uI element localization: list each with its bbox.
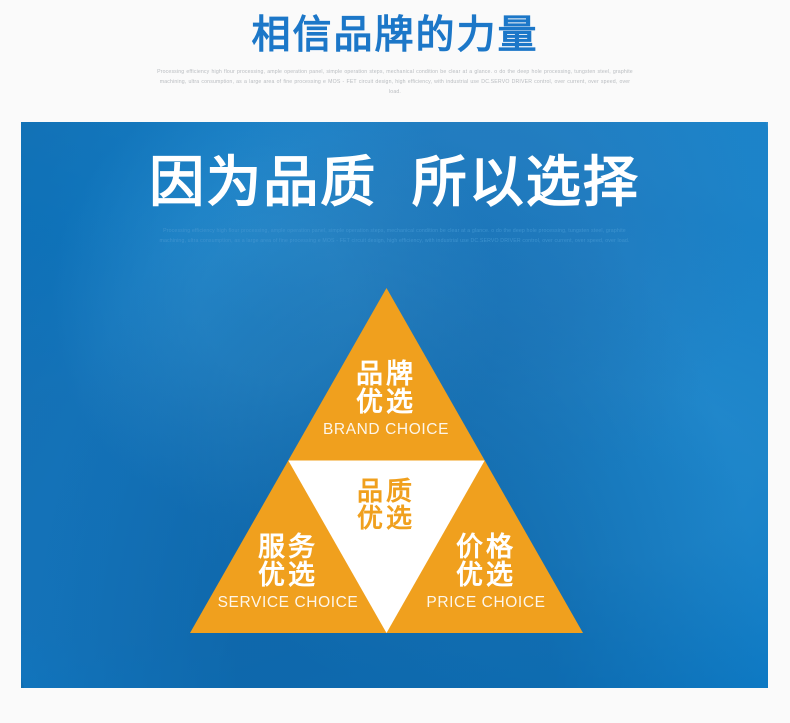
- banner-content: 因为品质 所以选择 Processing efficiency high flo…: [21, 122, 768, 688]
- page-title: 相信品牌的力量: [0, 0, 790, 61]
- triangle-diagram-svg: [190, 288, 583, 633]
- page-header: 相信品牌的力量 Processing efficiency high flour…: [0, 0, 790, 122]
- page-description: Processing efficiency high flour process…: [155, 67, 635, 97]
- page-footer-spacer: [0, 688, 790, 723]
- triangle-diagram: 品牌 优选 BRAND CHOICE 服务 优选 SERVICE CHOICE …: [190, 288, 583, 633]
- feature-banner-panel: 因为品质 所以选择 Processing efficiency high flo…: [21, 122, 768, 688]
- banner-headline: 因为品质 所以选择: [21, 122, 768, 214]
- banner-description: Processing efficiency high flour process…: [160, 226, 630, 246]
